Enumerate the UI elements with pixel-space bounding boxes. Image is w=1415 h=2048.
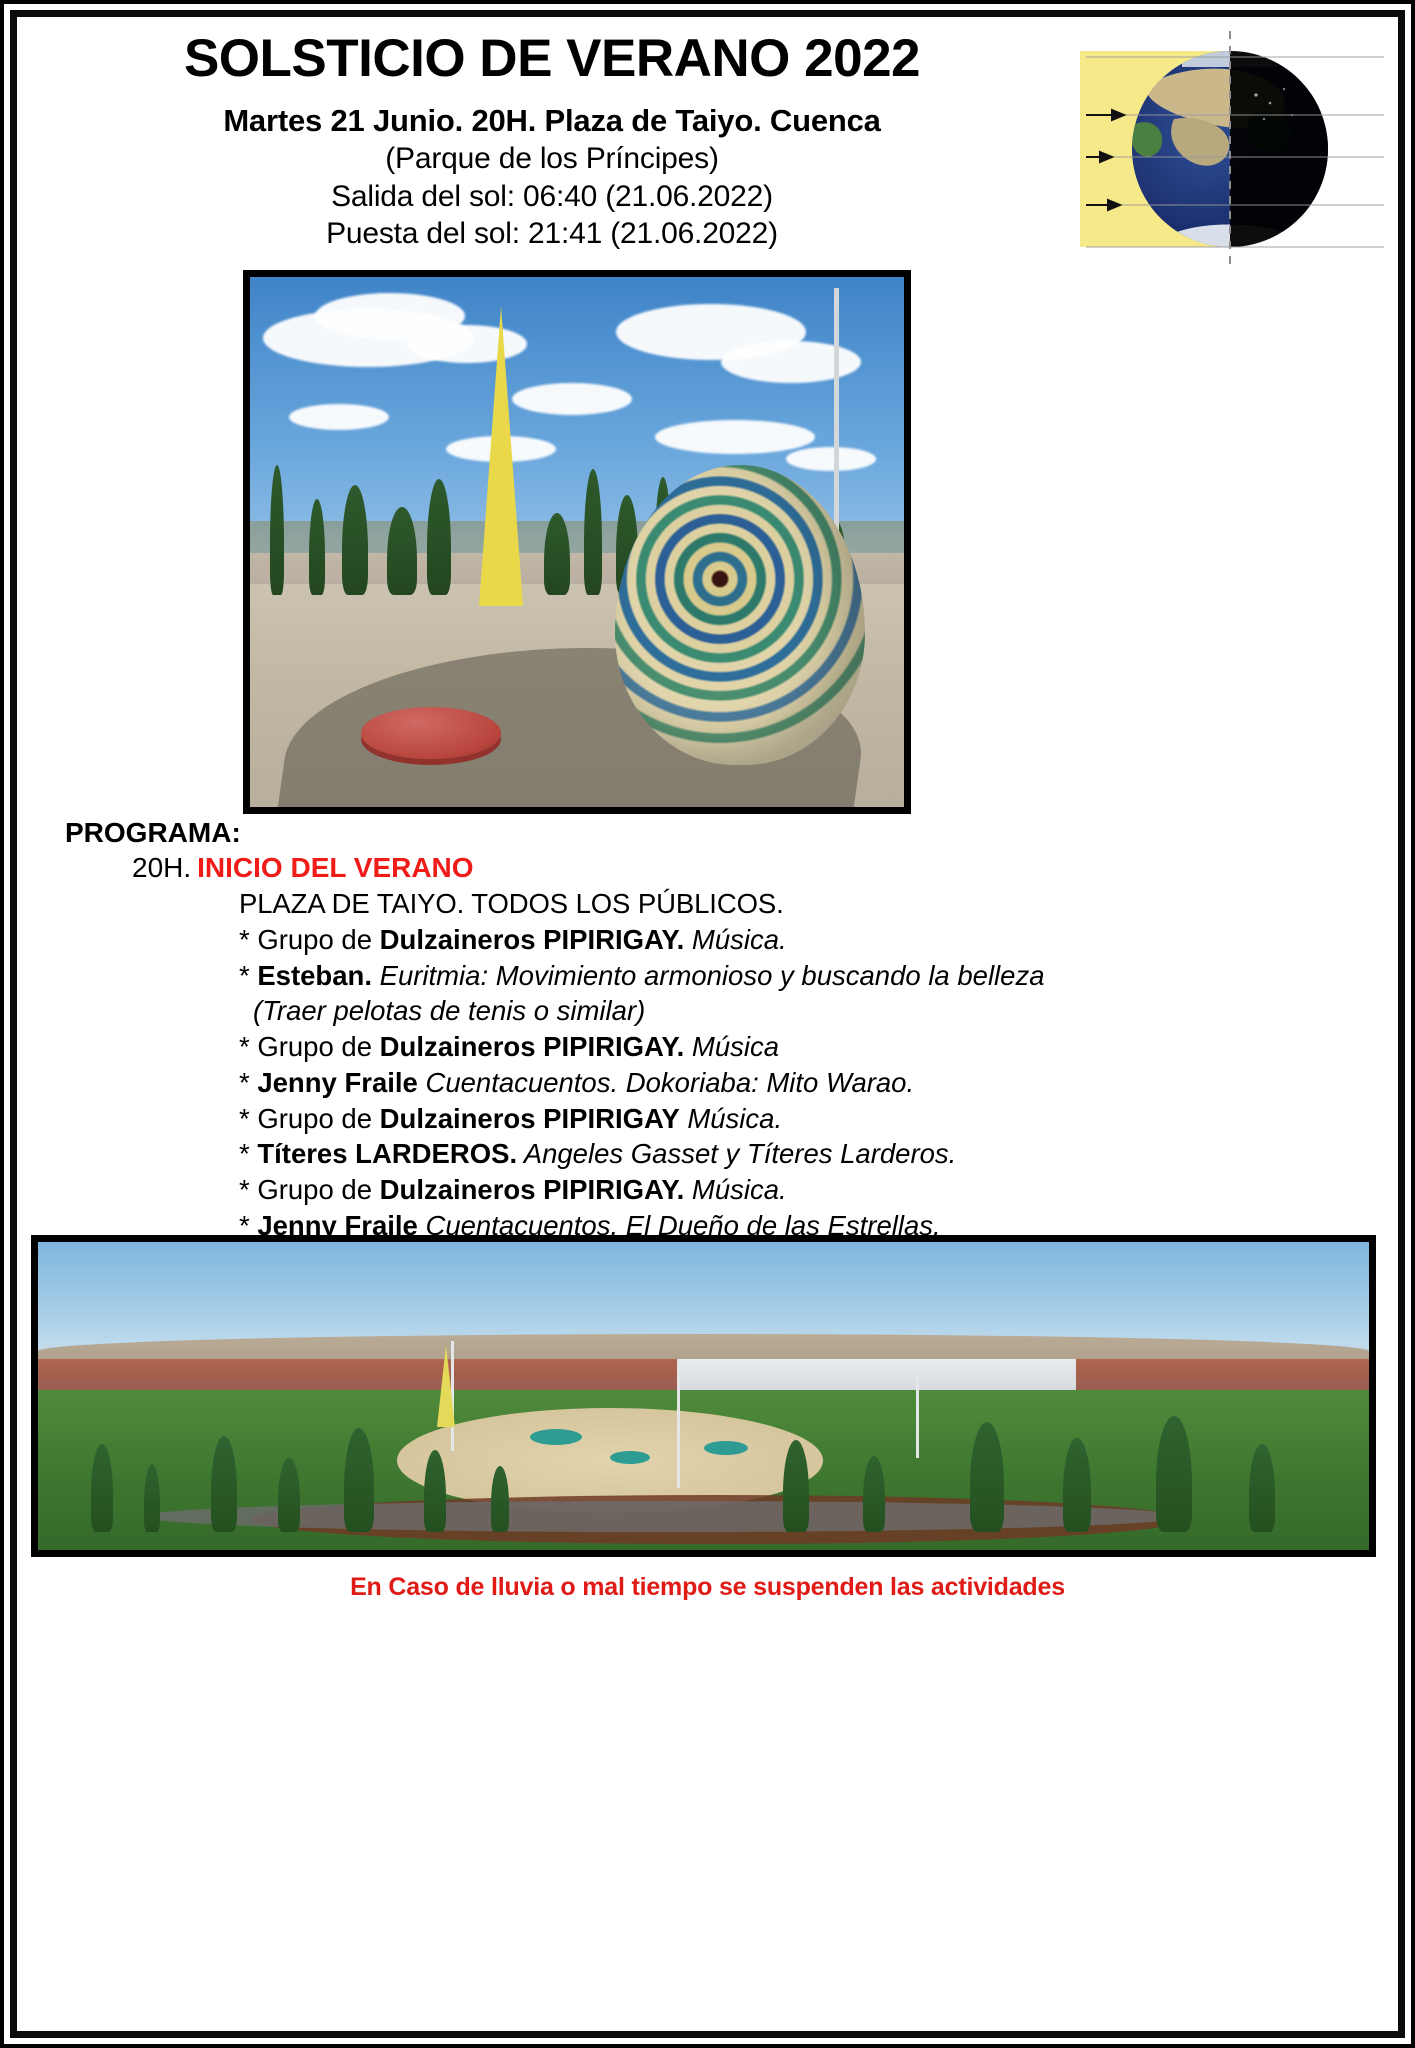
- list-item: * Grupo de Dulzaineros PIPIRIGAY. Música…: [239, 922, 1398, 958]
- item-bullet: *: [239, 1031, 250, 1062]
- photo-red-disc-sculpture: [361, 707, 501, 759]
- item-continuation: (Traer pelotas de tenis o similar): [239, 993, 1398, 1029]
- item-italic: Música: [684, 1031, 779, 1062]
- weather-warning-text: En Caso de lluvia o mal tiempo se suspen…: [350, 1573, 1065, 1601]
- globe-icon: [1078, 23, 1390, 275]
- panorama-yellow-cone: [437, 1345, 455, 1427]
- item-bullet: *: [239, 960, 250, 991]
- programme-heading: PROGRAMA:: [65, 817, 1398, 849]
- poster-footer: En Caso de lluvia o mal tiempo se suspen…: [17, 1573, 1398, 1602]
- list-item: * Esteban. Euritmia: Movimiento armonios…: [239, 958, 1398, 994]
- item-italic: Música.: [684, 1174, 786, 1205]
- list-item: * Títeres LARDEROS. Angeles Gasset y Tít…: [239, 1136, 1398, 1172]
- item-bullet: *: [239, 1174, 250, 1205]
- item-bold: Dulzaineros PIPIRIGAY: [380, 1103, 680, 1134]
- event-date-line: Martes 21 Junio. 20H. Plaza de Taiyo. Cu…: [17, 101, 1087, 141]
- poster-inner-frame: SOLSTICIO DE VERANO 2022 Martes 21 Junio…: [10, 10, 1405, 2038]
- programme-headline: INICIO DEL VERANO: [197, 852, 473, 883]
- item-bold: Jenny Fraile: [257, 1067, 418, 1098]
- item-italic: Euritmia: Movimiento armonioso y buscand…: [372, 960, 1045, 991]
- item-bold: Dulzaineros PIPIRIGAY.: [380, 1174, 685, 1205]
- list-item: * Grupo de Dulzaineros PIPIRIGAY. Música: [239, 1029, 1398, 1065]
- programme-time: 20H.: [132, 852, 191, 883]
- panorama-white-houses: [677, 1359, 1076, 1393]
- poster-content: SOLSTICIO DE VERANO 2022 Martes 21 Junio…: [17, 17, 1398, 2031]
- item-pre: Grupo de: [257, 1174, 379, 1205]
- event-park-line: (Parque de los Príncipes): [17, 140, 1087, 178]
- item-pre: Grupo de: [257, 1031, 379, 1062]
- panorama-path: [144, 1501, 1182, 1532]
- sunrise-line: Salida del sol: 06:40 (21.06.2022): [17, 178, 1087, 216]
- programme-section: PROGRAMA: 20H.INICIO DEL VERANO PLAZA DE…: [17, 817, 1398, 1279]
- item-italic: Angeles Gasset y Títeres Larderos.: [517, 1138, 956, 1169]
- panorama-lamp-post: [677, 1360, 680, 1488]
- panorama-shade-umbrella: [610, 1451, 650, 1464]
- page-title: SOLSTICIO DE VERANO 2022: [17, 17, 1087, 87]
- programme-time-row: 20H.INICIO DEL VERANO: [132, 851, 1398, 884]
- sunset-line: Puesta del sol: 21:41 (21.06.2022): [17, 215, 1087, 253]
- list-item: * Jenny Fraile Cuentacuentos. Dokoriaba:…: [239, 1065, 1398, 1101]
- item-bullet: *: [239, 1103, 250, 1134]
- item-pre: Grupo de: [257, 1103, 379, 1134]
- item-bold: Dulzaineros PIPIRIGAY.: [380, 924, 685, 955]
- programme-list: PLAZA DE TAIYO. TODOS LOS PÚBLICOS. * Gr…: [17, 886, 1398, 1279]
- photo-yellow-cone: [479, 306, 523, 606]
- solstice-globe-diagram: [1078, 23, 1390, 275]
- item-bullet: *: [239, 1067, 250, 1098]
- panorama-shade-umbrella: [704, 1441, 748, 1455]
- panorama-lamp-post: [916, 1362, 919, 1458]
- park-panorama-photo: [31, 1235, 1376, 1557]
- item-bold: Títeres LARDEROS.: [257, 1138, 517, 1169]
- list-item: * Grupo de Dulzaineros PIPIRIGAY. Música…: [239, 1172, 1398, 1208]
- item-italic: Música.: [684, 924, 786, 955]
- programme-venue: PLAZA DE TAIYO. TODOS LOS PÚBLICOS.: [239, 886, 1398, 922]
- event-details: Martes 21 Junio. 20H. Plaza de Taiyo. Cu…: [17, 101, 1087, 253]
- item-italic: Cuentacuentos. Dokoriaba: Mito Warao.: [418, 1067, 914, 1098]
- item-bold: Dulzaineros PIPIRIGAY.: [380, 1031, 685, 1062]
- item-bullet: *: [239, 1138, 250, 1169]
- list-item: * Grupo de Dulzaineros PIPIRIGAY Música.: [239, 1101, 1398, 1137]
- item-italic: Música.: [680, 1103, 782, 1134]
- item-bullet: *: [239, 924, 250, 955]
- item-bold: Esteban.: [257, 960, 372, 991]
- poster-header: SOLSTICIO DE VERANO 2022 Martes 21 Junio…: [17, 17, 1087, 253]
- poster-outer-frame: SOLSTICIO DE VERANO 2022 Martes 21 Junio…: [0, 0, 1415, 2048]
- main-plaza-photo: [243, 270, 911, 814]
- item-pre: Grupo de: [257, 924, 379, 955]
